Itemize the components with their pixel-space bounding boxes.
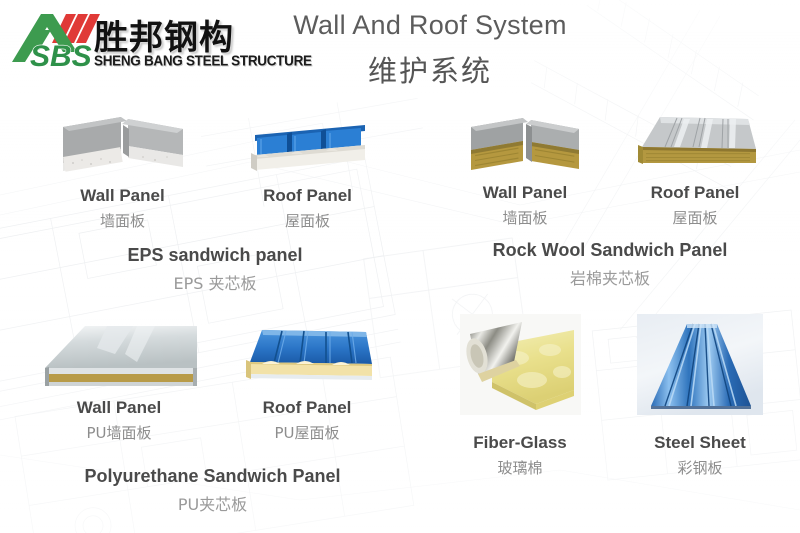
page-title-chinese: 维护系统 xyxy=(0,48,800,90)
product-label-en: Fiber-Glass xyxy=(430,433,610,453)
product-steelsheet: Steel Sheet 彩钢板 xyxy=(610,312,790,478)
product-group-materials: Fiber-Glass 玻璃棉 xyxy=(430,312,790,492)
product-label-en: Wall Panel xyxy=(440,183,610,203)
group-title-en: EPS sandwich panel xyxy=(30,245,400,266)
eps-roof-panel-photo xyxy=(243,105,373,180)
eps-wall-panel-photo xyxy=(55,105,190,180)
product-label-zh: 墙面板 xyxy=(30,210,215,231)
product-label-zh: PU墙面板 xyxy=(25,422,213,443)
product-label-en: Wall Panel xyxy=(25,398,213,418)
product-rockwool-roof: Roof Panel 屋面板 xyxy=(610,105,780,228)
group-title-en: Polyurethane Sandwich Panel xyxy=(25,466,400,487)
product-label-en: Roof Panel xyxy=(213,398,401,418)
rockwool-roof-panel-photo xyxy=(630,105,760,177)
product-group-eps: Wall Panel 墙面板 xyxy=(30,105,400,285)
group-title-en: Rock Wool Sandwich Panel xyxy=(440,240,780,261)
product-label-zh: 彩钢板 xyxy=(610,457,790,478)
product-group-pu: Wall Panel PU墙面板 xyxy=(25,318,400,508)
product-rockwool-wall: Wall Panel 墙面板 xyxy=(440,105,610,228)
product-label-zh: 屋面板 xyxy=(610,207,780,228)
product-group-rockwool: Wall Panel 墙面板 xyxy=(440,105,780,285)
fiberglass-roll-photo xyxy=(458,312,583,417)
page-title-english: Wall And Roof System xyxy=(0,10,800,41)
product-label-en: Steel Sheet xyxy=(610,433,790,453)
product-label-en: Roof Panel xyxy=(215,186,400,206)
product-eps-roof: Roof Panel 屋面板 xyxy=(215,105,400,231)
product-fiberglass: Fiber-Glass 玻璃棉 xyxy=(430,312,610,478)
group-title-zh: 岩棉夹芯板 xyxy=(440,265,780,289)
pu-wall-panel-photo xyxy=(37,318,202,390)
product-label-zh: 屋面板 xyxy=(215,210,400,231)
rockwool-wall-panel-photo xyxy=(465,105,585,177)
product-pu-roof: Roof Panel PU屋面板 xyxy=(213,318,401,443)
product-label-zh: 玻璃棉 xyxy=(430,457,610,478)
product-label-en: Roof Panel xyxy=(610,183,780,203)
pu-roof-panel-photo xyxy=(240,318,375,390)
product-eps-wall: Wall Panel 墙面板 xyxy=(30,105,215,231)
slide-canvas: SBS 胜邦钢构 SHENG BANG STEEL STRUCTURE Wall… xyxy=(0,0,800,533)
group-title-zh: PU夹芯板 xyxy=(25,491,400,515)
product-label-en: Wall Panel xyxy=(30,186,215,206)
product-pu-wall: Wall Panel PU墙面板 xyxy=(25,318,213,443)
group-title-zh: EPS 夹芯板 xyxy=(30,270,400,294)
product-label-zh: PU屋面板 xyxy=(213,422,401,443)
steel-sheet-photo xyxy=(635,312,765,417)
product-label-zh: 墙面板 xyxy=(440,207,610,228)
